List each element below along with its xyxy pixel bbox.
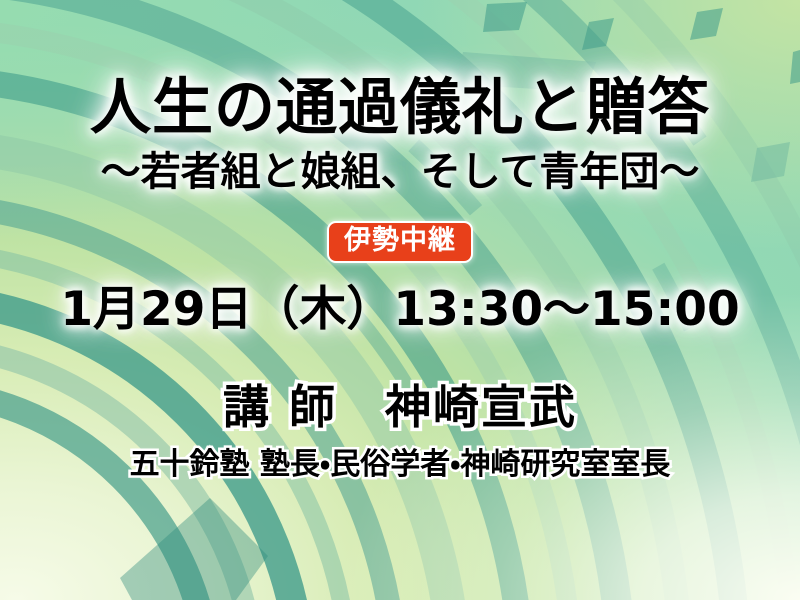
poster-subtitle: ～若者組と娘組、そして青年団～: [101, 151, 700, 194]
broadcast-badge: 伊勢中継: [327, 221, 473, 263]
badge-container: 伊勢中継: [327, 221, 473, 263]
speaker-affiliation: 五十鈴塾 塾長・民俗学者・神崎研究室室長: [130, 449, 671, 481]
event-datetime: 1月29日（木）13:30～15:00: [60, 285, 739, 335]
poster-canvas: 人生の通過儀礼と贈答 ～若者組と娘組、そして青年団～ 伊勢中継 1月29日（木）…: [0, 0, 800, 600]
poster-content: 人生の通過儀礼と贈答 ～若者組と娘組、そして青年団～ 伊勢中継 1月29日（木）…: [0, 0, 800, 600]
poster-title: 人生の通過儀礼と贈答: [90, 76, 710, 139]
speaker-name: 講 師 神崎宣武: [223, 383, 577, 432]
